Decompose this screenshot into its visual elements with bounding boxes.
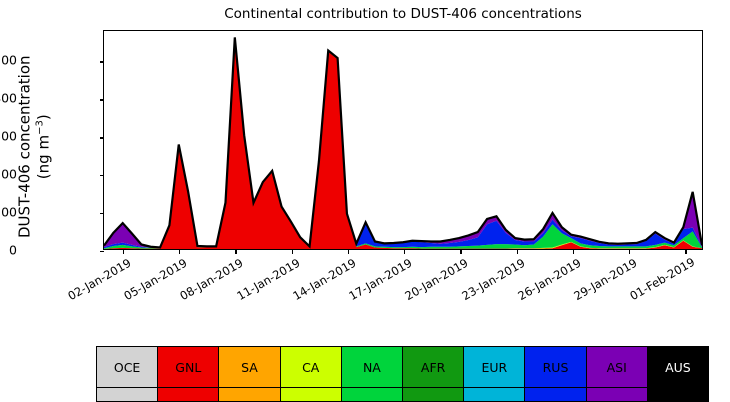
y-axis-label: DUST-406 concentration (ng m−3) [15,27,53,267]
legend-label: SA [241,360,258,375]
legend-row2-cell-sa[interactable] [219,388,280,401]
legend-cell-rus[interactable]: RUS [525,347,586,387]
figure: Continental contribution to DUST-406 con… [0,0,730,402]
y-tick-mark [100,251,105,252]
legend-cell-eur[interactable]: EUR [464,347,525,387]
x-tick-mark [460,249,461,254]
x-tick-mark [685,249,686,254]
legend-row2-cell-eur[interactable] [464,388,525,401]
legend-row2-cell-gnl[interactable] [158,388,219,401]
y-tick-mark [100,99,105,100]
area-series-ca [104,39,702,249]
area-series-sa [104,39,702,249]
legend-label: RUS [543,360,569,375]
area-series-na [104,38,702,249]
legend-table: OCEGNLSACANAAFREURRUSASIAUS [96,346,709,388]
legend-cell-ca[interactable]: CA [281,347,342,387]
legend-label: AFR [421,360,445,375]
y-axis-label-line2: (ng m−3) [34,27,53,267]
y-tick-mark [100,61,105,62]
x-tick-mark [292,249,293,254]
legend-cell-na[interactable]: NA [342,347,403,387]
area-series-aus [104,37,702,247]
legend-label: GNL [175,360,201,375]
area-series-rus [104,38,702,248]
y-tick-mark [100,175,105,176]
legend-cell-aus[interactable]: AUS [648,347,708,387]
legend-label: AUS [665,360,691,375]
x-tick-mark [123,249,124,254]
x-tick-label: 08-Jan-2019 [178,256,246,303]
y-tick-label: 300 [0,129,17,144]
legend-label: NA [363,360,381,375]
legend-row2-cell-asi[interactable] [587,388,648,401]
legend-cell-oce[interactable]: OCE [97,347,158,387]
x-tick-mark [348,249,349,254]
legend-label: OCE [114,360,140,375]
area-series-eur [104,38,702,248]
legend-table-second-row [96,388,709,402]
legend-cell-sa[interactable]: SA [219,347,280,387]
y-tick-mark [100,213,105,214]
x-tick-label: 02-Jan-2019 [65,256,133,303]
x-tick-label: 23-Jan-2019 [459,256,527,303]
x-tick-mark [179,249,180,254]
legend-label: EUR [481,360,507,375]
x-tick-mark [517,249,518,254]
x-tick-label: 01-Feb-2019 [628,256,696,303]
legend-row2-cell-na[interactable] [342,388,403,401]
legend-row2-cell-rus[interactable] [525,388,586,401]
x-tick-label: 17-Jan-2019 [346,256,414,303]
plot-area [103,30,703,250]
y-tick-label: 100 [0,205,17,220]
x-tick-mark [573,249,574,254]
legend-cell-asi[interactable]: ASI [587,347,648,387]
x-tick-mark [235,249,236,254]
area-series-gnl [104,39,702,249]
total-outline [104,37,702,247]
legend-label: CA [302,360,319,375]
x-tick-mark [404,249,405,254]
x-tick-label: 20-Jan-2019 [403,256,471,303]
y-tick-label: 400 [0,91,17,106]
legend-row2-cell-ca[interactable] [281,388,342,401]
legend-cell-afr[interactable]: AFR [403,347,464,387]
x-tick-label: 05-Jan-2019 [121,256,189,303]
chart-title: Continental contribution to DUST-406 con… [103,6,703,22]
y-tick-label: 200 [0,167,17,182]
y-tick-mark [100,137,105,138]
x-tick-label: 11-Jan-2019 [234,256,302,303]
stacked-area-chart [104,31,702,249]
x-tick-mark [629,249,630,254]
y-axis-label-line1: DUST-406 concentration [15,27,34,267]
legend-row2-cell-aus[interactable] [648,388,708,401]
y-tick-label: 500 [0,53,17,68]
legend-row2-cell-oce[interactable] [97,388,158,401]
legend-row2-cell-afr[interactable] [403,388,464,401]
y-tick-label: 0 [0,243,17,258]
area-series-afr [104,38,702,248]
legend-label: ASI [607,360,627,375]
legend-cell-gnl[interactable]: GNL [158,347,219,387]
area-series-asi [104,37,702,247]
x-tick-label: 29-Jan-2019 [571,256,639,303]
